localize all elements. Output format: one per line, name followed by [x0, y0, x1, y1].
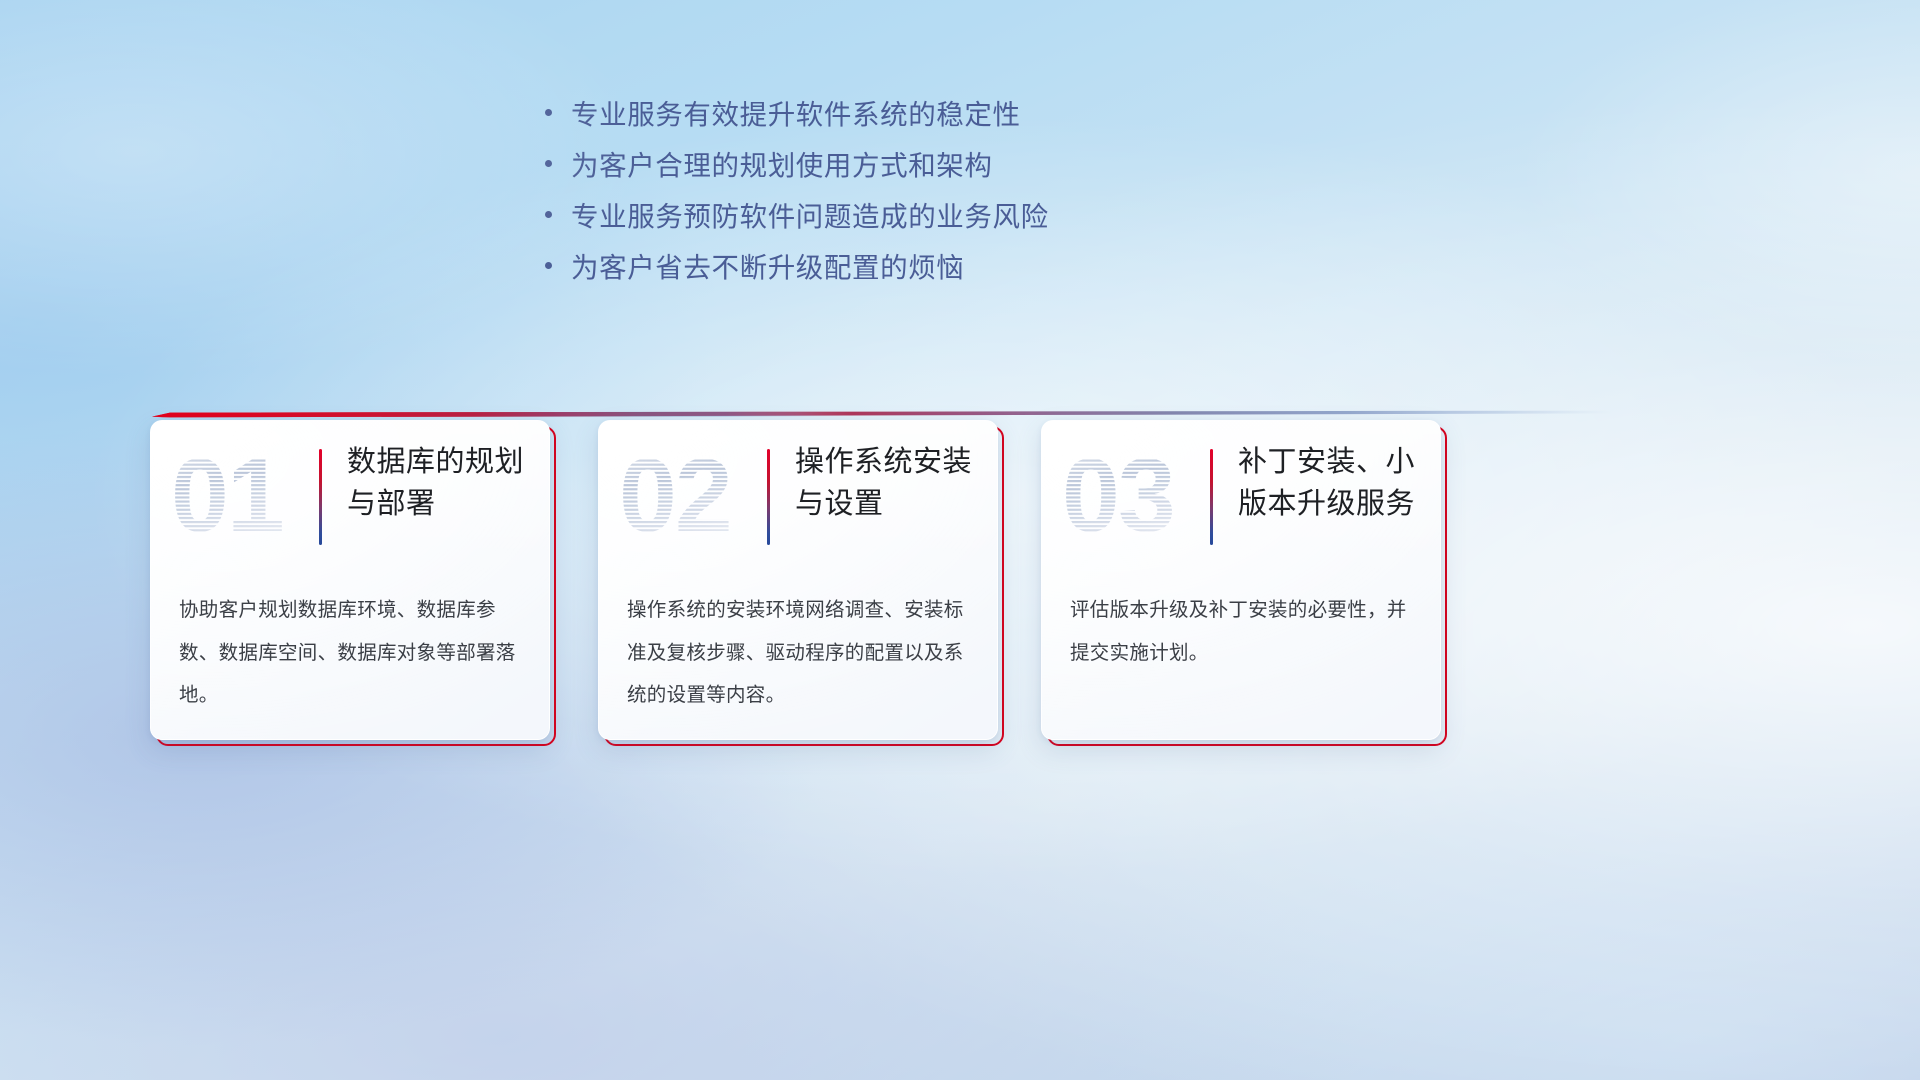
card-title: 补丁安装、小版本升级服务	[1238, 441, 1428, 525]
card-panel: 02 操作系统安装与设置 操作系统的安装环境网络调查、安装标准及复核步骤、驱动程…	[598, 420, 998, 740]
watermark-number-icon: 03	[1060, 439, 1192, 555]
bullet-dot-icon	[545, 149, 571, 179]
card-panel: 01 数据库的规划与部署 协助客户规划数据库环境、数据库参数、数据库空间、数据库…	[150, 420, 550, 740]
bullet-dot-icon	[545, 200, 571, 230]
bullet-item-label: 专业服务预防软件问题造成的业务风险	[571, 194, 1049, 234]
card-accent-bar	[1210, 449, 1213, 545]
svg-text:02: 02	[619, 439, 731, 554]
bullet-item-label: 专业服务有效提升软件系统的稳定性	[571, 92, 1021, 132]
card-header: 01 数据库的规划与部署	[151, 421, 550, 573]
card-accent-bar	[767, 449, 770, 545]
list-item: 为客户合理的规划使用方式和架构	[545, 143, 1365, 194]
list-item: 专业服务有效提升软件系统的稳定性	[545, 92, 1365, 143]
list-item: 为客户省去不断升级配置的烦恼	[545, 245, 1365, 296]
bullet-dot-icon	[545, 251, 571, 281]
card-description: 评估版本升级及补丁安装的必要性，并提交实施计划。	[1070, 589, 1418, 674]
feature-card[interactable]: 01 数据库的规划与部署 协助客户规划数据库环境、数据库参数、数据库空间、数据库…	[150, 420, 550, 740]
watermark-number-icon: 02	[617, 439, 749, 555]
slide-canvas: 专业服务有效提升软件系统的稳定性 为客户合理的规划使用方式和架构 专业服务预防软…	[0, 0, 1920, 1080]
card-header: 03 补丁安装、小版本升级服务	[1042, 421, 1441, 573]
list-item: 专业服务预防软件问题造成的业务风险	[545, 194, 1365, 245]
card-header: 02 操作系统安装与设置	[599, 421, 998, 573]
feature-card[interactable]: 02 操作系统安装与设置 操作系统的安装环境网络调查、安装标准及复核步骤、驱动程…	[598, 420, 998, 740]
card-description: 协助客户规划数据库环境、数据库参数、数据库空间、数据库对象等部署落地。	[179, 589, 527, 717]
bullet-list: 专业服务有效提升软件系统的稳定性 为客户合理的规划使用方式和架构 专业服务预防软…	[545, 92, 1365, 296]
card-accent-bar	[319, 449, 322, 545]
bullet-item-label: 为客户省去不断升级配置的烦恼	[571, 245, 964, 285]
feature-card[interactable]: 03 补丁安装、小版本升级服务 评估版本升级及补丁安装的必要性，并提交实施计划。	[1041, 420, 1441, 740]
svg-text:03: 03	[1062, 439, 1174, 554]
svg-text:01: 01	[171, 439, 283, 554]
card-title: 操作系统安装与设置	[795, 441, 985, 525]
feature-card-row: 01 数据库的规划与部署 协助客户规划数据库环境、数据库参数、数据库空间、数据库…	[150, 420, 1770, 750]
bullet-item-label: 为客户合理的规划使用方式和架构	[571, 143, 993, 183]
card-description: 操作系统的安装环境网络调查、安装标准及复核步骤、驱动程序的配置以及系统的设置等内…	[627, 589, 975, 717]
card-panel: 03 补丁安装、小版本升级服务 评估版本升级及补丁安装的必要性，并提交实施计划。	[1041, 420, 1441, 740]
bullet-dot-icon	[545, 98, 571, 128]
card-title: 数据库的规划与部署	[347, 441, 537, 525]
watermark-number-icon: 01	[169, 439, 301, 555]
